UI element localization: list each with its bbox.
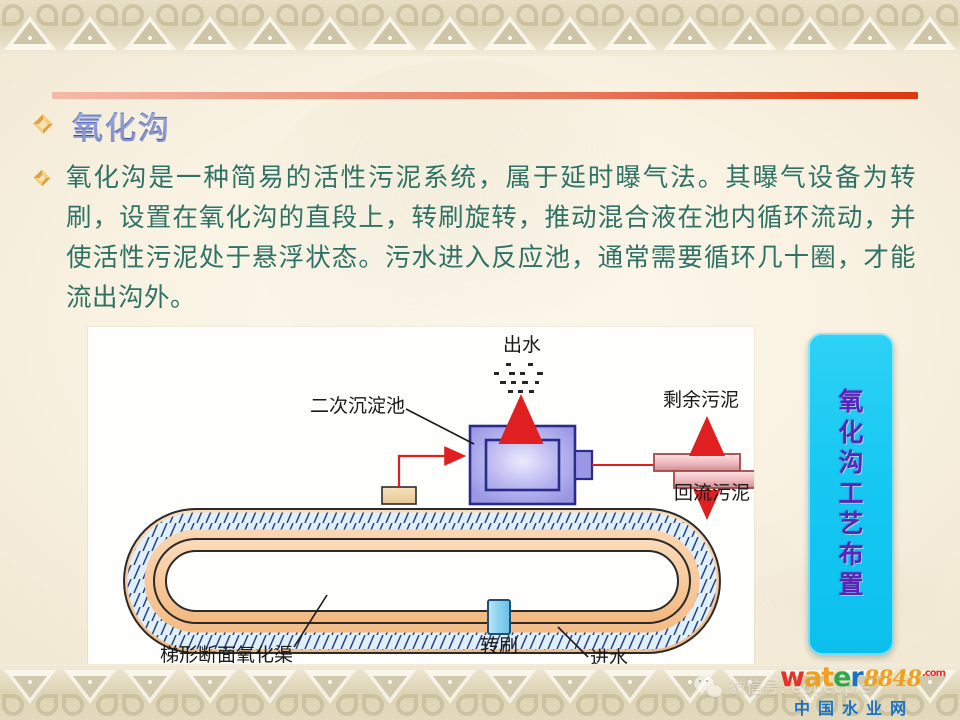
secondary-clarifier-symbol — [470, 426, 592, 504]
rotor-brush-symbol — [488, 600, 510, 634]
site-logo-watermark: water8848.com 中国水业网 — [780, 660, 948, 706]
site-logo-cn: 中国水业网 — [794, 695, 948, 719]
ornament-tile — [540, 0, 600, 56]
vertical-banner-char-3: 工 — [838, 479, 863, 510]
page-title: 氧化沟 — [72, 103, 171, 148]
vertical-banner-char-0: 氧 — [838, 387, 863, 418]
ornament-tile — [120, 664, 180, 720]
ornament-tile — [480, 0, 540, 56]
label-effluent: 出水 — [503, 334, 541, 356]
bullet-diamond-title — [33, 114, 53, 134]
ornament-tile — [540, 664, 600, 720]
site-logo-wordmark: water8848.com — [780, 660, 948, 693]
bullet-diamond-body — [34, 170, 51, 187]
ornament-tile — [480, 664, 540, 720]
label-return-sludge: 回流污泥 — [674, 482, 750, 504]
oxidation-ditch-loop — [124, 509, 720, 653]
process-diagram-figure: 出水 二次沉淀池 剩余污泥 回流污泥 梯形断面氧化渠 转刷 进水 — [88, 327, 754, 667]
ornament-tile — [780, 0, 840, 56]
ornament-tile — [600, 0, 660, 56]
vertical-banner-char-4: 艺 — [838, 509, 863, 540]
ornament-tile — [720, 0, 780, 56]
slide-canvas: 氧化沟 氧化沟是一种简易的活性污泥系统，属于延时曝气法。其曝气设备为转刷，设置在… — [0, 0, 960, 720]
vertical-banner-char-2: 沟 — [838, 448, 863, 479]
ornament-tile — [240, 0, 300, 56]
label-secondary-clarifier: 二次沉淀池 — [310, 395, 405, 417]
vertical-banner-char-6: 置 — [838, 570, 863, 601]
vertical-banner-text: 氧化沟工艺布置 — [808, 333, 894, 655]
wechat-icon — [694, 675, 722, 697]
ornament-tile — [180, 0, 240, 56]
ornament-tile — [900, 0, 960, 56]
ornament-tile — [300, 0, 360, 56]
ornament-tile — [420, 664, 480, 720]
ornament-tile — [600, 664, 660, 720]
vertical-banner-char-1: 化 — [838, 418, 863, 449]
label-trapezoid-channel: 梯形断面氧化渠 — [160, 644, 293, 666]
vertical-banner: 氧化沟工艺布置 — [808, 333, 894, 655]
ornament-tile — [420, 0, 480, 56]
ornament-tile — [60, 664, 120, 720]
label-rotor-brush: 转刷 — [480, 635, 518, 657]
ornament-tile — [0, 664, 60, 720]
body-paragraph: 氧化沟是一种简易的活性污泥系统，属于延时曝气法。其曝气设备为转刷，设置在氧化沟的… — [66, 158, 916, 318]
ornament-tile — [0, 0, 60, 56]
ornament-tile — [360, 0, 420, 56]
site-logo-number: 8848 — [864, 666, 921, 692]
ornament-tile — [840, 0, 900, 56]
ornament-tile — [300, 664, 360, 720]
ornament-tile — [60, 0, 120, 56]
site-logo-tld: .com — [922, 668, 945, 679]
ornament-tile — [240, 664, 300, 720]
vertical-banner-char-5: 布 — [838, 540, 863, 571]
ornament-border-top — [0, 0, 960, 56]
header-accent-rule — [52, 92, 918, 99]
ornament-tile — [660, 0, 720, 56]
outlet-structure-box — [382, 487, 416, 504]
ornament-tile — [120, 0, 180, 56]
ornament-tile — [180, 664, 240, 720]
ornament-tile — [360, 664, 420, 720]
label-excess-sludge: 剩余污泥 — [663, 389, 739, 411]
